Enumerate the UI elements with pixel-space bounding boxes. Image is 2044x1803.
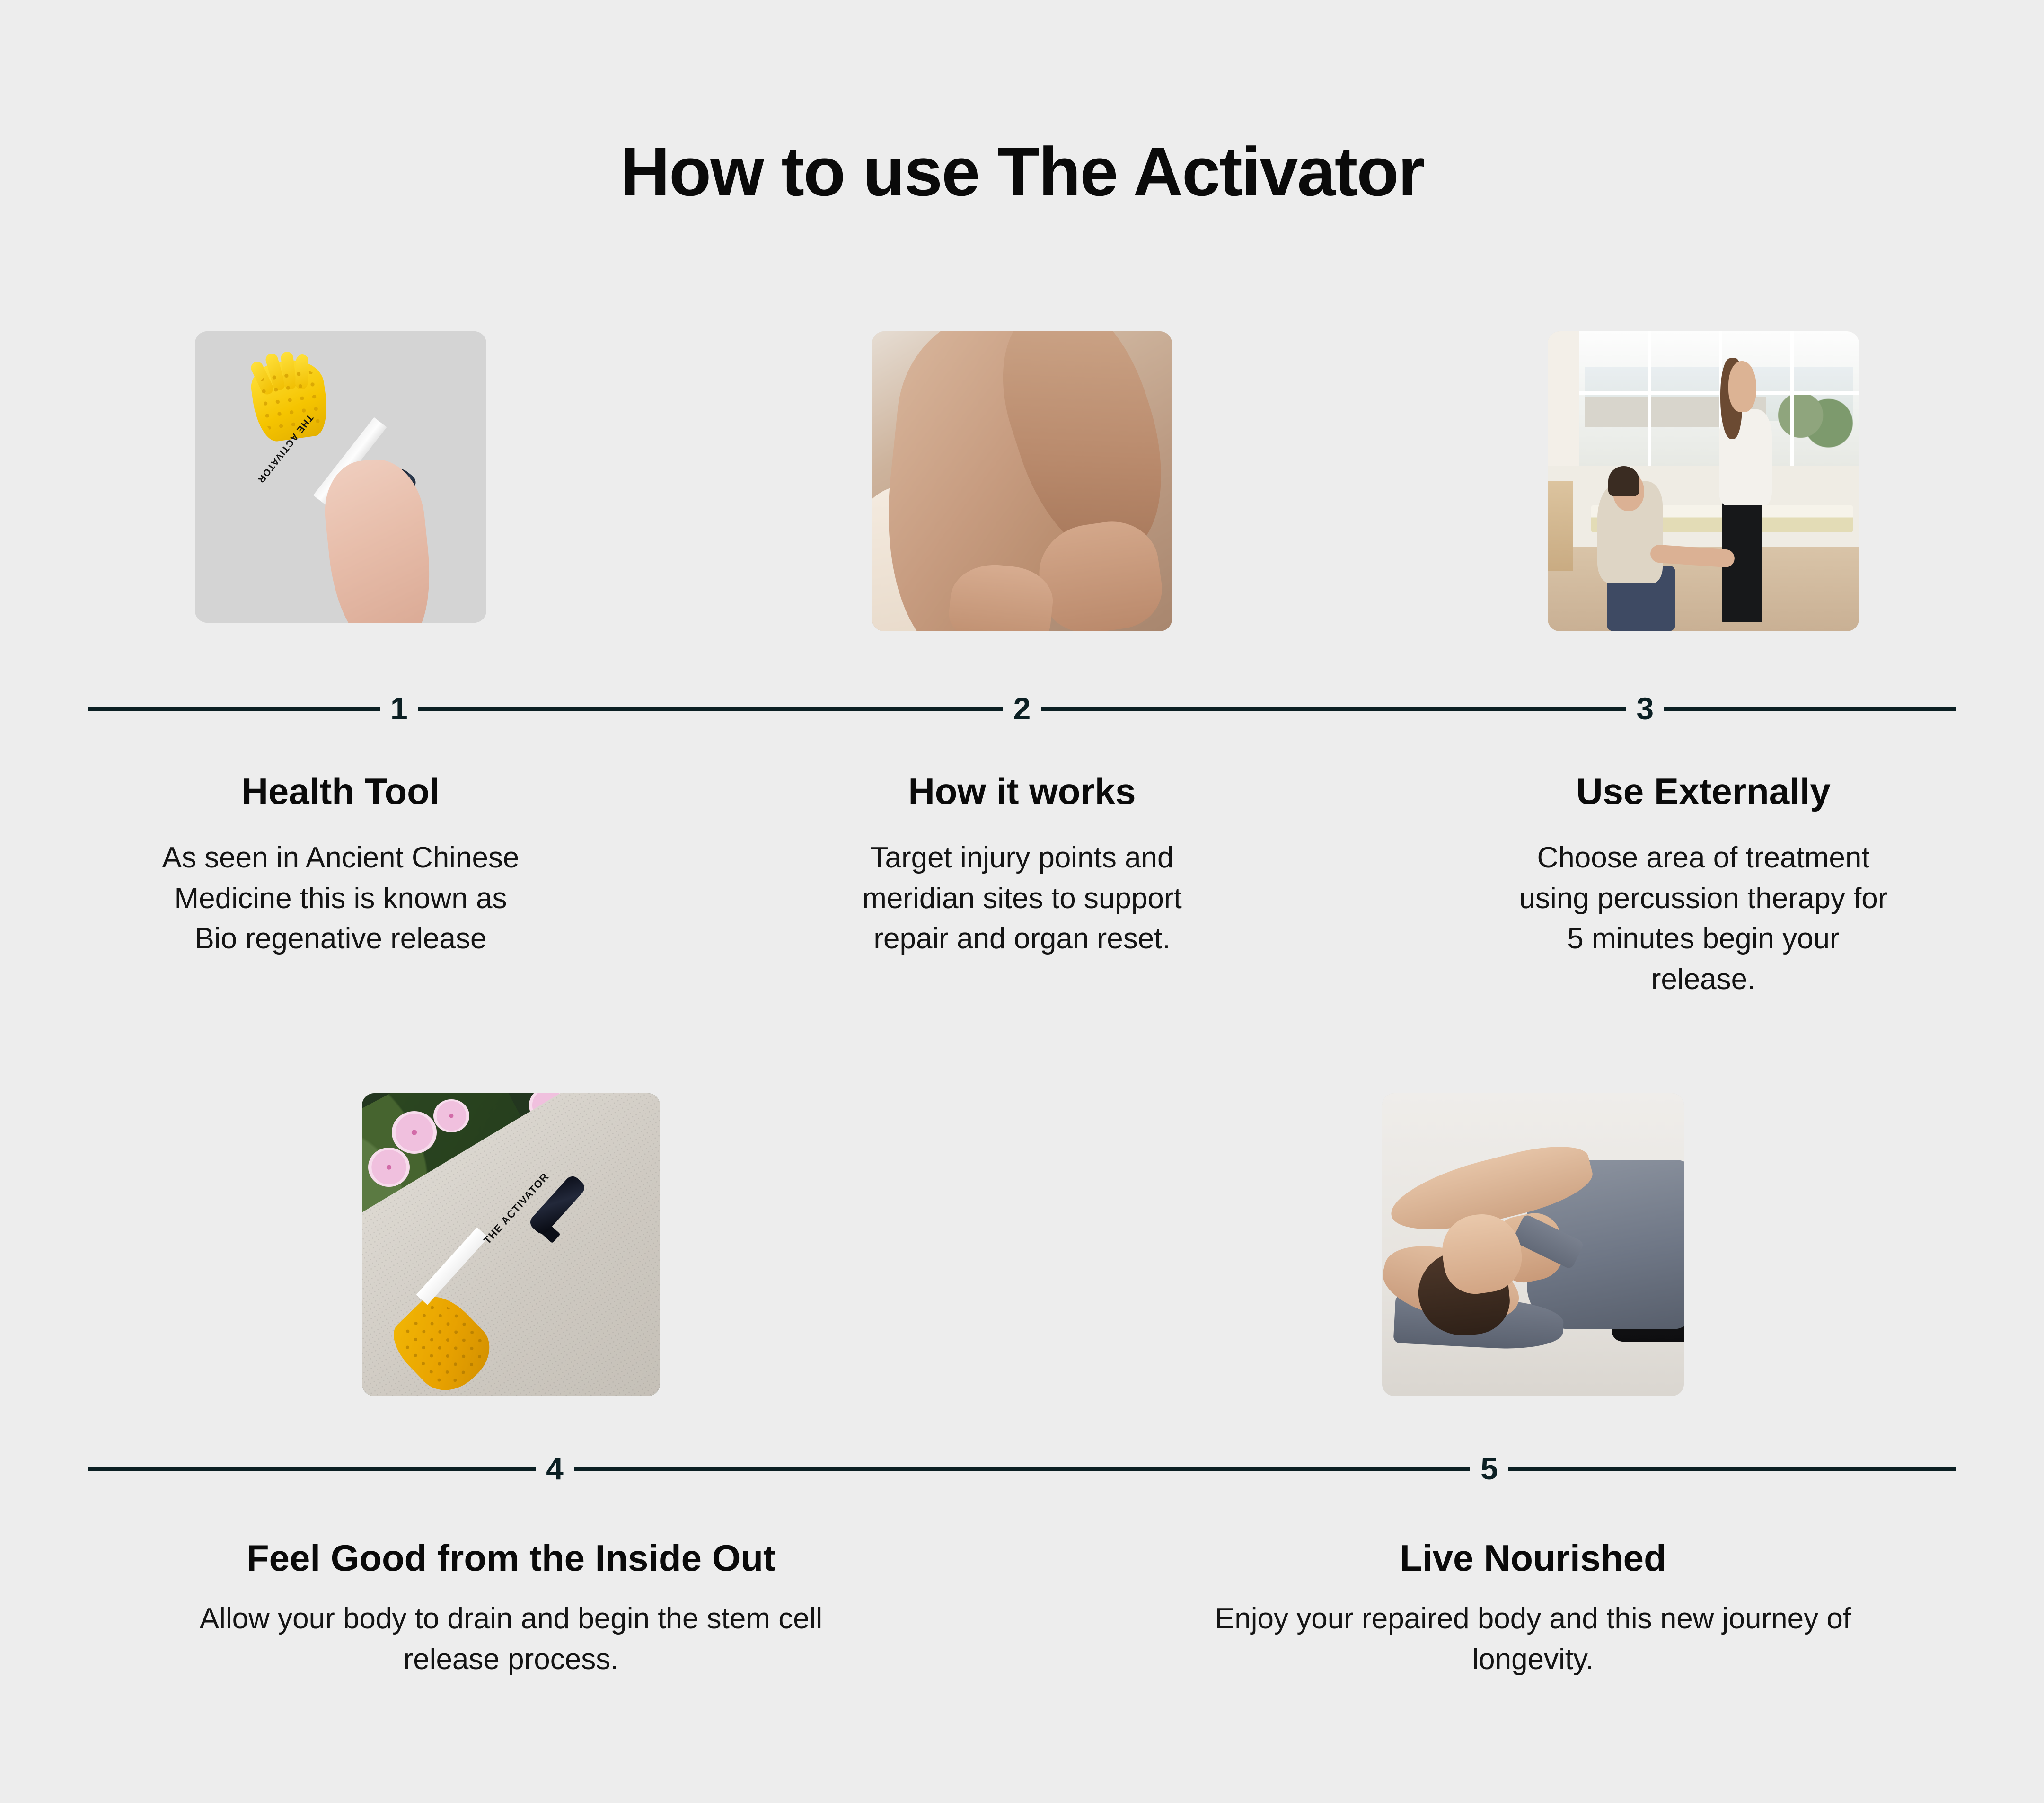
window-mullion — [1648, 331, 1651, 466]
step-1-heading: Health Tool — [19, 769, 662, 813]
window-mullion — [1579, 391, 1859, 395]
step-1-text: Health Tool As seen in Ancient Chinese M… — [0, 724, 681, 999]
step-3-text: Use Externally Choose area of treatment … — [1363, 724, 2044, 999]
step-4-photo: THE ACTIVATOR — [362, 1093, 660, 1396]
step-3-photo — [1548, 331, 1859, 631]
divider-rule — [88, 1467, 536, 1471]
divider-rule — [711, 707, 1003, 711]
step-5-photo — [1382, 1093, 1684, 1396]
divider-rule — [418, 707, 711, 711]
step-5-divider: 5 — [1022, 1453, 1956, 1484]
divider-rule — [1022, 1467, 1470, 1471]
divider-band-bottom: 4 5 — [0, 1453, 2044, 1484]
divider-rule — [88, 707, 380, 711]
step-3-heading: Use Externally — [1382, 769, 2025, 813]
step-1-photo: THE ACTIVATOR — [195, 331, 486, 623]
step-1-body: As seen in Ancient Chinese Medicine this… — [156, 838, 525, 959]
step-1-image-cell: THE ACTIVATOR — [0, 331, 681, 631]
step-1-divider: 1 — [88, 693, 711, 724]
divider-rule — [1664, 707, 1956, 711]
step-number-3: 3 — [1626, 693, 1664, 724]
step-2-text: How it works Target injury points and me… — [681, 724, 1363, 999]
step-2-divider: 2 — [711, 693, 1334, 724]
step-4-body: Allow your body to drain and begin the s… — [175, 1599, 847, 1679]
divider-rule — [1508, 1467, 1956, 1471]
step-2-heading: How it works — [700, 769, 1344, 813]
step-4-image-cell: THE ACTIVATOR — [0, 1093, 1022, 1396]
step-2-body: Target injury points and meridian sites … — [837, 838, 1207, 959]
step-number-5: 5 — [1470, 1453, 1508, 1484]
pink-flower — [368, 1148, 410, 1187]
text-band-bottom: Feel Good from the Inside Out Allow your… — [0, 1484, 2044, 1679]
step-number-2: 2 — [1003, 693, 1041, 724]
text-band-top: Health Tool As seen in Ancient Chinese M… — [0, 724, 2044, 999]
therapist-hair — [1608, 466, 1639, 496]
step-4-heading: Feel Good from the Inside Out — [19, 1536, 1003, 1580]
image-band-top: THE ACTIVATOR — [0, 331, 2044, 631]
cabinet — [1548, 481, 1573, 571]
image-band-bottom: THE ACTIVATOR — [0, 1093, 2044, 1396]
steps-row-top: THE ACTIVATOR — [0, 331, 2044, 999]
divider-rule — [1041, 707, 1333, 711]
pink-flower — [392, 1111, 437, 1154]
steps-row-bottom: THE ACTIVATOR — [0, 1093, 2044, 1679]
client-head — [1728, 361, 1756, 412]
step-2-image-cell — [681, 331, 1363, 631]
window-mullion — [1790, 331, 1794, 466]
step-5-text: Live Nourished Enjoy your repaired body … — [1022, 1484, 2044, 1679]
step-5-body: Enjoy your repaired body and this new jo… — [1197, 1599, 1869, 1679]
step-4-text: Feel Good from the Inside Out Allow your… — [0, 1484, 1022, 1679]
step-5-image-cell — [1022, 1093, 2044, 1396]
step-3-image-cell — [1363, 331, 2044, 631]
how-to-use-infographic: How to use The Activator THE ACTIVATOR — [0, 0, 2044, 1803]
divider-rule — [1333, 707, 1626, 711]
step-3-body: Choose area of treatment using percussio… — [1519, 838, 1888, 999]
step-number-1: 1 — [380, 693, 418, 724]
divider-band-top: 1 2 3 — [0, 693, 2044, 724]
pink-flower — [433, 1099, 469, 1132]
step-number-4: 4 — [536, 1453, 574, 1484]
divider-rule — [574, 1467, 1022, 1471]
page-title: How to use The Activator — [0, 135, 2044, 208]
step-5-heading: Live Nourished — [1041, 1536, 2025, 1580]
step-3-divider: 3 — [1333, 693, 1956, 724]
step-2-photo — [872, 331, 1172, 631]
step-4-divider: 4 — [88, 1453, 1022, 1484]
